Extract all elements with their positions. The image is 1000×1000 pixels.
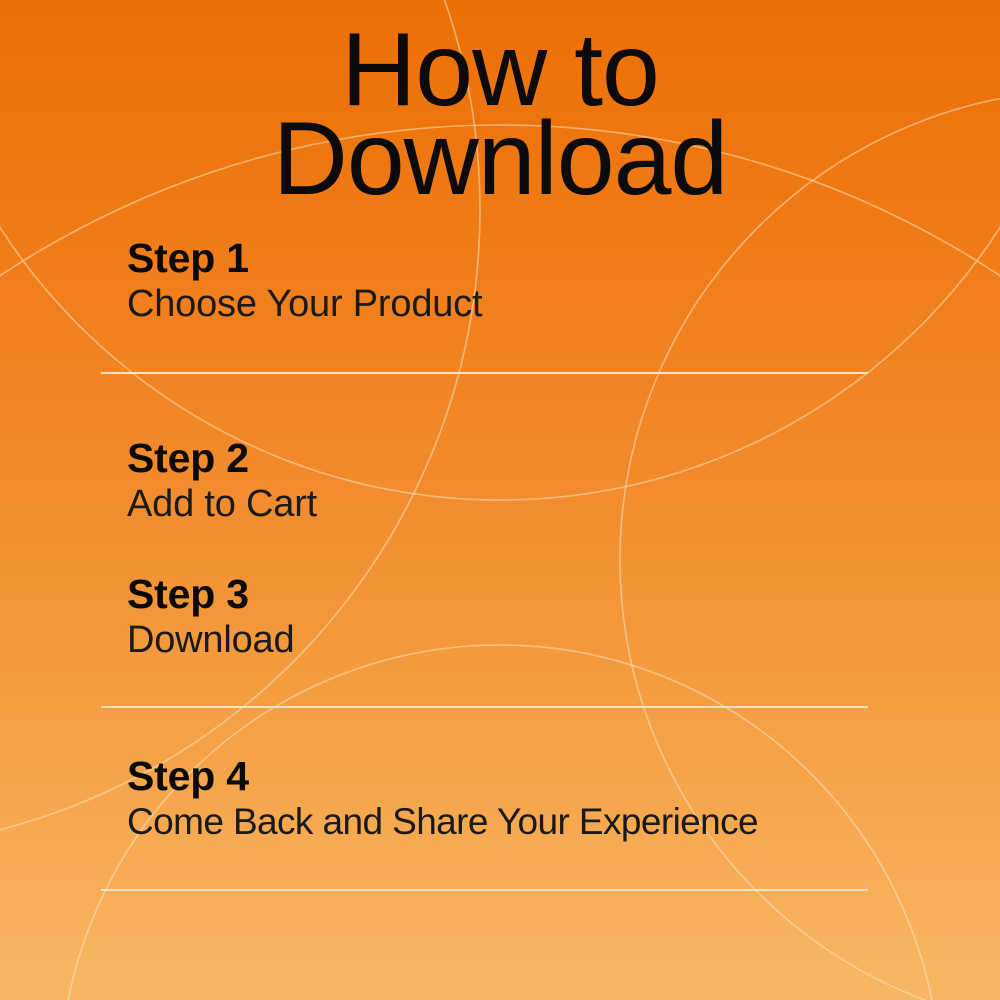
page-title: How to Download — [0, 26, 1000, 205]
step-divider — [101, 706, 868, 708]
poster-content: How to Download Step 1 Choose Your Produ… — [0, 0, 1000, 1000]
step-description: Download — [127, 620, 868, 662]
step-label: Step 2 — [127, 436, 868, 480]
step-label: Step 4 — [127, 754, 868, 798]
spacer — [101, 843, 868, 889]
how-to-download-poster: How to Download Step 1 Choose Your Produ… — [0, 0, 1000, 1000]
steps-list: Step 1 Choose Your Product Step 2 Add to… — [101, 236, 868, 891]
step-description: Come Back and Share Your Experience — [127, 802, 868, 843]
step-label: Step 3 — [127, 572, 868, 616]
spacer — [101, 374, 868, 436]
step-divider — [101, 372, 868, 374]
spacer — [101, 662, 868, 706]
spacer — [101, 708, 868, 754]
spacer — [101, 326, 868, 372]
step-description: Choose Your Product — [127, 284, 868, 326]
step-divider — [101, 889, 868, 891]
list-item: Step 2 Add to Cart — [101, 436, 868, 526]
step-label: Step 1 — [127, 236, 868, 280]
step-description: Add to Cart — [127, 484, 868, 526]
list-item: Step 4 Come Back and Share Your Experien… — [101, 754, 868, 843]
spacer — [101, 526, 868, 572]
list-item: Step 3 Download — [101, 572, 868, 662]
list-item: Step 1 Choose Your Product — [101, 236, 868, 326]
